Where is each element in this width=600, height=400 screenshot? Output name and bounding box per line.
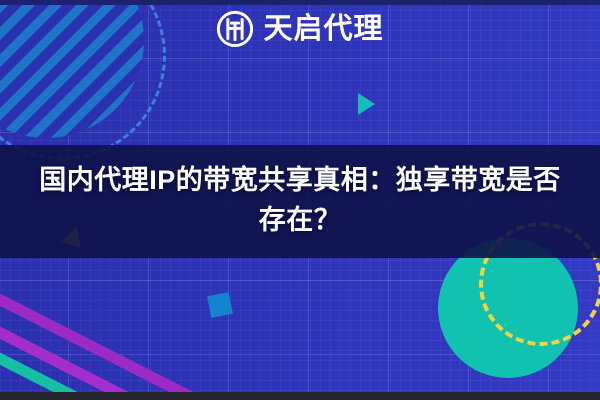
brand-header: 天启代理 [0,0,600,58]
brand-name: 天启代理 [263,15,383,44]
square-blue-decoration [207,292,233,318]
bottom-edge-band [0,392,600,400]
banner-title: 国内代理IP的带宽共享真相：独享带宽是否存在？ [26,160,574,240]
triangle-teal-icon [358,93,375,115]
promo-banner: 天启代理 国内代理IP的带宽共享真相：独享带宽是否存在？ [0,0,600,400]
circle-monogram-icon [216,10,254,48]
